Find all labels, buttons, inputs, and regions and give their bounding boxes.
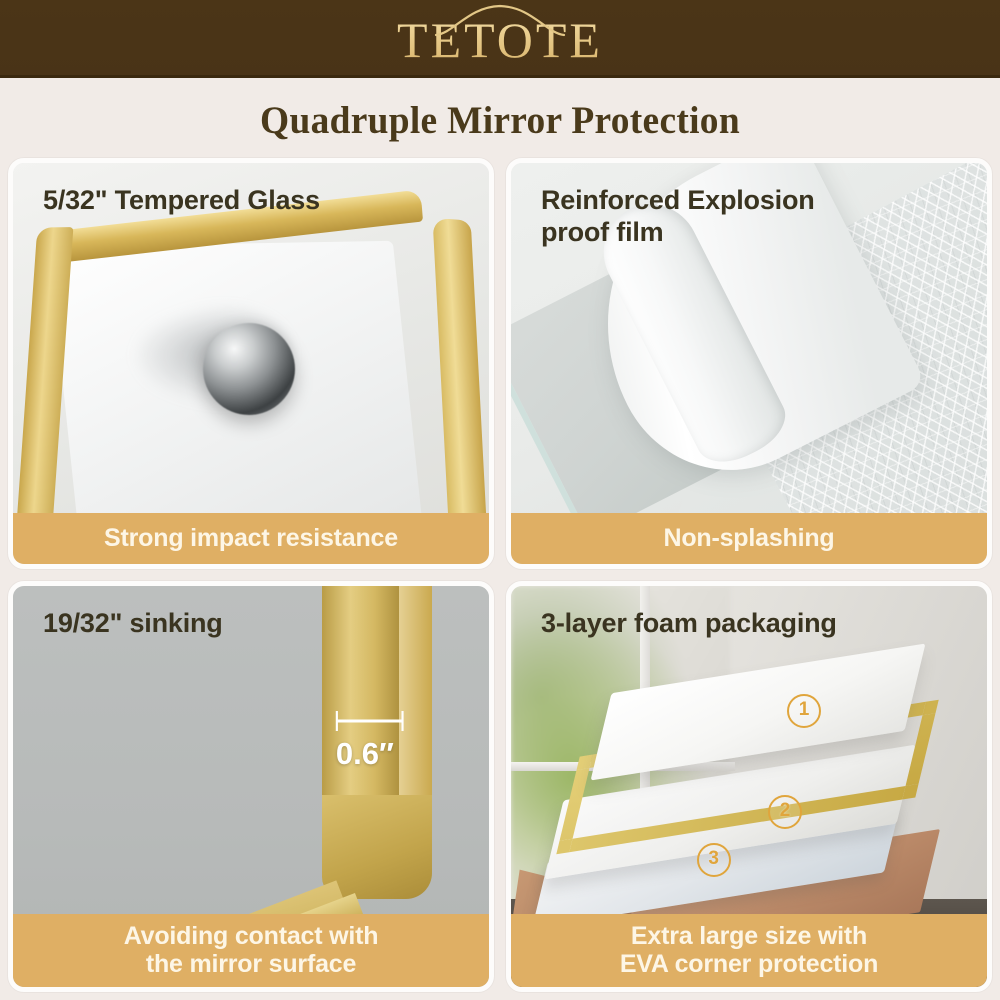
panel-tempered-glass[interactable]: 5/32" Tempered Glass Strong impact resis… — [8, 158, 494, 569]
panel-foam-packaging[interactable]: 1 2 3 3-layer foam packaging Extra large… — [506, 581, 992, 992]
panel-caption: Avoiding contact with the mirror surface — [13, 914, 489, 987]
layer-badge-3: 3 — [697, 843, 731, 877]
brand-logo: TETOTE — [0, 2, 1000, 78]
panel-heading: Reinforced Explosion proof film — [541, 185, 963, 249]
panel-heading: 19/32" sinking — [43, 608, 465, 640]
feature-grid: 5/32" Tempered Glass Strong impact resis… — [8, 158, 992, 992]
frame-elbow — [322, 795, 431, 899]
dimension-label: 0.6″ — [336, 738, 394, 769]
tempered-glass-illustration — [13, 163, 489, 564]
panel-caption-line1: Extra large size with — [631, 922, 867, 950]
dimension-line-icon — [334, 710, 405, 732]
brand-header: TETOTE — [0, 0, 1000, 78]
panel-caption-line1: Avoiding contact with — [124, 922, 379, 950]
panel-heading: 3-layer foam packaging — [541, 608, 963, 640]
panel-caption-line2: the mirror surface — [146, 950, 356, 978]
panel-heading: 5/32" Tempered Glass — [43, 185, 465, 217]
panel-caption: Strong impact resistance — [13, 513, 489, 564]
panel-heading-line1: Reinforced Explosion — [541, 185, 815, 215]
page-title: Quadruple Mirror Protection — [20, 78, 980, 151]
panel-caption: Extra large size with EVA corner protect… — [511, 914, 987, 987]
panel-caption: Non-splashing — [511, 513, 987, 564]
panel-heading-line2: proof film — [541, 217, 663, 247]
brand-name: TETOTE — [393, 12, 607, 68]
panel-caption-line2: EVA corner protection — [620, 950, 878, 978]
layer-badge-2: 2 — [768, 795, 802, 829]
panel-explosion-proof-film[interactable]: Reinforced Explosion proof film Non-spla… — [506, 158, 992, 569]
infographic-page: TETOTE Quadruple Mirror Protection 5/32"… — [0, 0, 1000, 1000]
gold-frame-right — [433, 218, 488, 541]
panel-sinking-frame[interactable]: 0.6″ 19/32" sinking Avoiding contact wit… — [8, 581, 494, 992]
